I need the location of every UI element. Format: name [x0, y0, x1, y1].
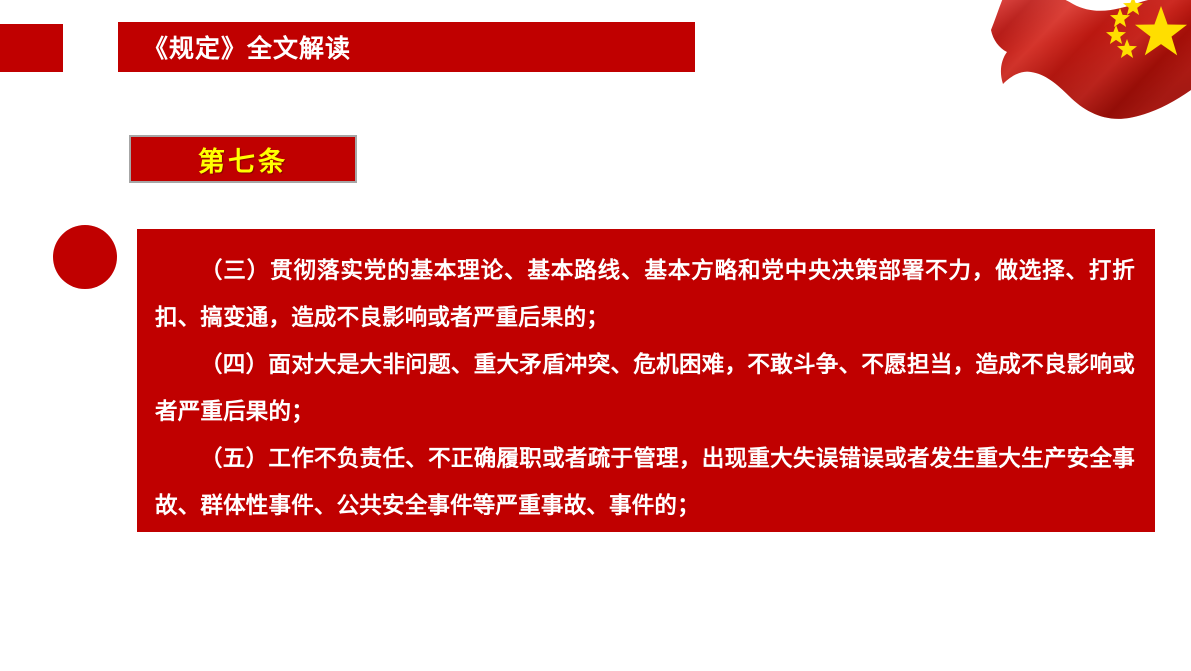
bullet-dot-icon [53, 225, 117, 289]
content-panel: （三）贯彻落实党的基本理论、基本路线、基本方略和党中央决策部署不力，做选择、打折… [137, 229, 1155, 532]
clause-paragraph-5: （五）工作不负责任、不正确履职或者疏于管理，出现重大失误错误或者发生重大生产安全… [155, 435, 1135, 529]
article-number-badge: 第七条 [129, 135, 357, 183]
header-banner: 《规定》全文解读 [118, 22, 695, 72]
article-number-label: 第七条 [198, 140, 288, 179]
chinese-national-flag-icon [965, 0, 1191, 130]
clause-paragraph-4: （四）面对大是大非问题、重大矛盾冲突、危机困难，不敢斗争、不愿担当，造成不良影响… [155, 341, 1135, 435]
header-accent-block [0, 24, 63, 72]
page-title: 《规定》全文解读 [118, 29, 351, 65]
clause-paragraph-3: （三）贯彻落实党的基本理论、基本路线、基本方略和党中央决策部署不力，做选择、打折… [155, 247, 1135, 341]
slide-canvas: 《规定》全文解读 [0, 0, 1191, 671]
